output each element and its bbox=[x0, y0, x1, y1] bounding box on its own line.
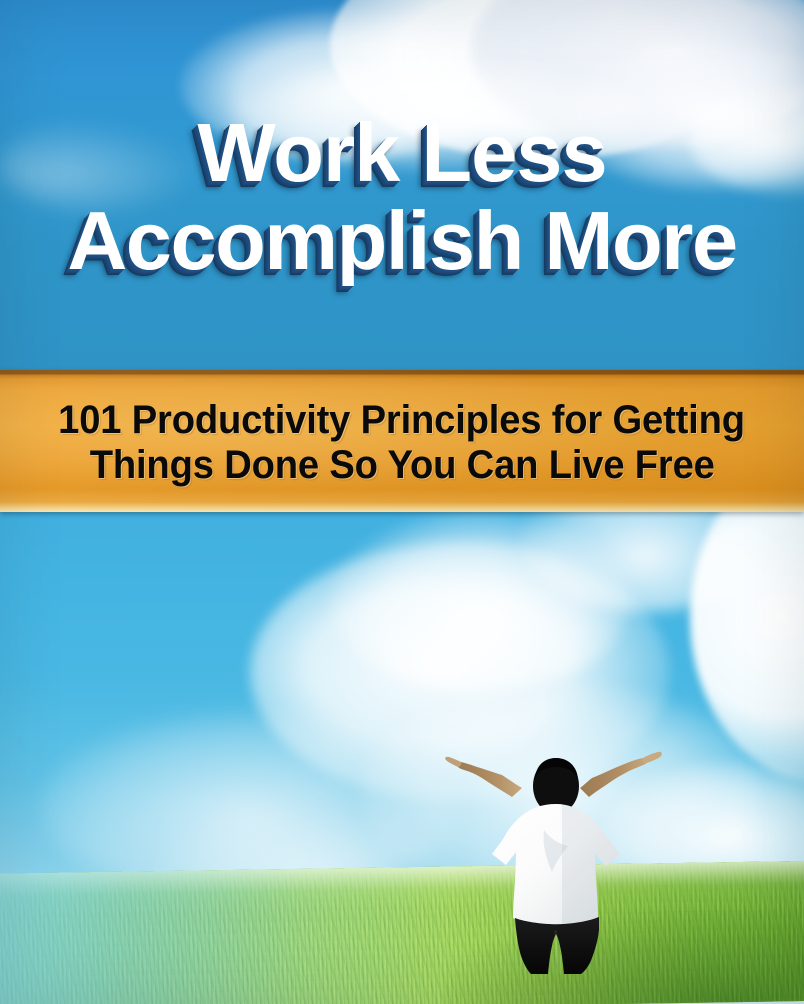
person-silhouette-icon bbox=[432, 734, 682, 979]
lower-scene-photo bbox=[0, 512, 804, 1004]
cloud-icon bbox=[690, 512, 804, 782]
shirt-shading bbox=[556, 804, 620, 925]
right-hand bbox=[643, 752, 662, 763]
subtitle-line-1: 101 Productivity Principles for Getting bbox=[59, 398, 746, 443]
cloud-icon bbox=[520, 512, 770, 612]
shirt bbox=[492, 804, 620, 925]
subtitle-line-2: Things Done So You Can Live Free bbox=[89, 443, 714, 488]
subtitle-banner: 101 Productivity Principles for Getting … bbox=[0, 370, 804, 512]
book-cover: Work Less Accomplish More 101 Productivi… bbox=[0, 0, 804, 1004]
title-line-2: Accomplish More bbox=[0, 200, 804, 282]
grass-field bbox=[0, 861, 804, 1004]
person-arms-raised-figure bbox=[432, 734, 682, 979]
left-arm bbox=[457, 762, 522, 797]
cloud-icon bbox=[330, 512, 630, 692]
left-hand bbox=[445, 757, 461, 767]
right-arm bbox=[580, 758, 649, 797]
subtitle-banner-inner: 101 Productivity Principles for Getting … bbox=[0, 370, 804, 512]
title-line-1: Work Less bbox=[0, 112, 804, 194]
cover-title: Work Less Accomplish More bbox=[0, 112, 804, 282]
